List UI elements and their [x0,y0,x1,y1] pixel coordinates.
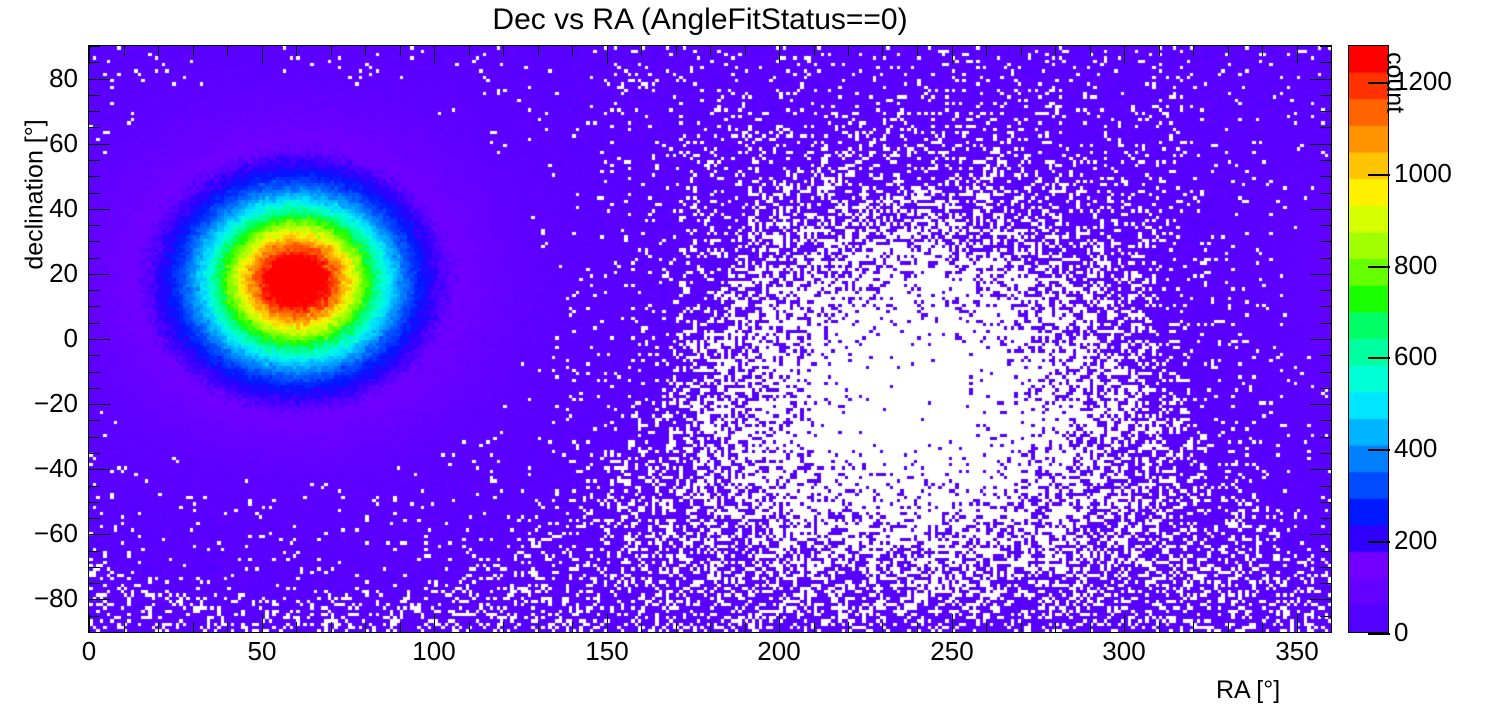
y-axis-tick-minor-right [1320,567,1332,568]
y-axis-tick-major-right [1310,599,1332,600]
x-axis-tick-minor-top [745,46,746,56]
x-axis-tick-minor [848,622,849,632]
x-axis-tick-minor [676,622,677,632]
histogram-plot-area [88,45,1332,633]
x-axis-tick-major [262,614,263,632]
y-axis-tick-minor [88,388,100,389]
x-axis-tick-minor [400,622,401,632]
y-axis-tick-major-right [1310,469,1332,470]
y-axis-tick-major [88,339,110,340]
y-axis-tick-minor [88,290,100,291]
y-axis-tick-minor [88,518,100,519]
color-bar-tick [1368,357,1390,359]
y-axis-tick-minor [88,127,100,128]
x-axis-tick-minor [814,622,815,632]
y-axis-tick-major [88,534,110,535]
page-title: Dec vs RA (AngleFitStatus==0) [0,3,1400,37]
y-axis-tick-minor-right [1320,355,1332,356]
y-axis-tick-minor-right [1320,551,1332,552]
y-axis-tick-major [88,469,110,470]
x-axis-tick-major [779,614,780,632]
x-axis-tick-minor [986,622,987,632]
color-bar-tick [1368,449,1390,451]
y-axis-tick-major [88,599,110,600]
x-axis-tick-minor-top [365,46,366,56]
y-axis-tick-minor-right [1320,111,1332,112]
y-axis-tick-major-right [1310,144,1332,145]
y-axis-tick-major-right [1310,79,1332,80]
y-axis-tick-minor-right [1320,323,1332,324]
y-axis-tick-minor-right [1320,632,1332,633]
y-axis-tick-minor-right [1320,372,1332,373]
x-axis-tick-minor [1331,622,1332,632]
y-axis-tick-minor [88,567,100,568]
x-axis-tick-label: 150 [562,636,652,667]
y-axis-tick-minor [88,306,100,307]
x-axis-tick-label: 250 [907,636,997,667]
x-axis-tick-major-top [1297,46,1298,64]
y-axis-tick-minor [88,95,100,96]
x-axis-tick-minor-top [538,46,539,56]
x-axis-tick-minor [710,622,711,632]
x-axis-tick-minor [365,622,366,632]
color-bar-tick-label: 600 [1394,341,1437,372]
x-axis-tick-minor [1021,622,1022,632]
y-axis-tick-minor [88,241,100,242]
y-axis-tick-major-right [1310,274,1332,275]
x-axis-tick-minor-top [503,46,504,56]
x-axis-tick-label: 300 [1079,636,1169,667]
x-axis-tick-minor [158,622,159,632]
y-axis-tick-minor [88,225,100,226]
x-axis-tick-minor-top [331,46,332,56]
y-axis-tick-minor-right [1320,437,1332,438]
x-axis-tick-minor [469,622,470,632]
y-axis-tick-major-right [1310,534,1332,535]
y-axis-tick-minor-right [1320,225,1332,226]
x-axis-tick-minor-top [1193,46,1194,56]
x-axis-tick-major-top [262,46,263,64]
x-axis-tick-minor [227,622,228,632]
x-axis-tick-major-top [1124,46,1125,64]
x-axis-tick-minor [1159,622,1160,632]
y-axis-tick-minor-right [1320,290,1332,291]
x-axis-tick-minor [745,622,746,632]
color-bar-tick-label: 800 [1394,250,1437,281]
x-axis-tick-minor [503,622,504,632]
x-axis-tick-minor-top [641,46,642,56]
y-axis-tick-minor [88,420,100,421]
y-axis-tick-minor [88,583,100,584]
x-axis-tick-minor-top [227,46,228,56]
y-axis-tick-minor [88,632,100,633]
x-axis-tick-minor [331,622,332,632]
color-bar-tick-label: 200 [1394,525,1437,556]
x-axis-tick-minor-top [986,46,987,56]
y-axis-tick-minor-right [1320,241,1332,242]
x-axis-tick-minor-top [158,46,159,56]
y-axis-tick-minor-right [1320,583,1332,584]
y-axis-tick-minor [88,111,100,112]
x-axis-tick-minor [882,622,883,632]
y-axis-tick-label: 0 [18,323,78,354]
x-axis-tick-major-top [89,46,90,64]
x-axis-tick-minor-top [1262,46,1263,56]
y-axis-tick-major [88,209,110,210]
x-axis-tick-minor [1193,622,1194,632]
x-axis-tick-label: 200 [734,636,824,667]
y-axis-tick-major [88,79,110,80]
x-axis-tick-major [89,614,90,632]
y-axis-tick-major [88,274,110,275]
y-axis-tick-minor [88,355,100,356]
x-axis-tick-minor [193,622,194,632]
x-axis-tick-major [607,614,608,632]
x-axis-tick-minor-top [1159,46,1160,56]
color-bar-tick-label: 1200 [1394,66,1452,97]
y-axis-tick-minor [88,160,100,161]
x-axis-tick-minor-top [572,46,573,56]
x-axis-tick-label: 350 [1252,636,1342,667]
y-axis-tick-minor-right [1320,388,1332,389]
x-axis-tick-major-top [779,46,780,64]
x-axis-tick-minor-top [1090,46,1091,56]
x-axis-tick-minor-top [1228,46,1229,56]
chart-root: Dec vs RA (AngleFitStatus==0) −80−60−40−… [0,0,1496,722]
x-axis-tick-major-top [952,46,953,64]
x-axis-tick-minor-top [124,46,125,56]
y-axis-tick-minor-right [1320,616,1332,617]
x-axis-tick-minor-top [917,46,918,56]
x-axis-tick-minor-top [1055,46,1056,56]
y-axis-tick-minor-right [1320,160,1332,161]
x-axis-tick-minor-top [848,46,849,56]
histogram-canvas [89,46,1331,632]
color-bar-tick [1368,633,1390,635]
y-axis-title: declination [°] [21,80,50,310]
x-axis-tick-minor-top [710,46,711,56]
y-axis-tick-minor [88,453,100,454]
x-axis-tick-minor [1055,622,1056,632]
x-axis-tick-major [952,614,953,632]
y-axis-tick-minor-right [1320,176,1332,177]
y-axis-tick-label: −80 [18,583,78,614]
y-axis-tick-minor [88,502,100,503]
x-axis-tick-label: 100 [389,636,479,667]
y-axis-tick-minor [88,258,100,259]
x-axis-tick-minor [296,622,297,632]
y-axis-tick-major [88,144,110,145]
y-axis-tick-minor-right [1320,306,1332,307]
x-axis-tick-major [1297,614,1298,632]
x-axis-tick-minor-top [882,46,883,56]
x-axis-title: RA [°] [1216,676,1280,705]
color-bar-tick [1368,541,1390,543]
x-axis-tick-minor [124,622,125,632]
y-axis-tick-minor [88,551,100,552]
color-bar-tick-label: 0 [1394,617,1408,648]
color-bar-tick [1368,266,1390,268]
y-axis-tick-minor-right [1320,502,1332,503]
x-axis-tick-minor-top [1331,46,1332,56]
x-axis-tick-minor-top [193,46,194,56]
x-axis-tick-minor-top [469,46,470,56]
x-axis-tick-minor [538,622,539,632]
y-axis-tick-label: −40 [18,453,78,484]
y-axis-tick-minor [88,176,100,177]
x-axis-tick-minor [1228,622,1229,632]
y-axis-tick-label: −60 [18,518,78,549]
color-bar-tick-label: 1000 [1394,158,1452,189]
x-axis-tick-minor-top [296,46,297,56]
y-axis-tick-minor [88,323,100,324]
y-axis-tick-minor-right [1320,258,1332,259]
color-bar-tick [1368,174,1390,176]
y-axis-tick-minor [88,193,100,194]
y-axis-tick-major [88,404,110,405]
y-axis-tick-minor-right [1320,193,1332,194]
y-axis-tick-minor [88,437,100,438]
y-axis-tick-minor-right [1320,420,1332,421]
x-axis-tick-minor [1262,622,1263,632]
y-axis-tick-minor [88,372,100,373]
x-axis-tick-minor [917,622,918,632]
y-axis-tick-minor [88,486,100,487]
y-axis-tick-minor-right [1320,62,1332,63]
color-bar-tick [1368,82,1390,84]
x-axis-tick-label: 0 [44,636,134,667]
x-axis-tick-major [1124,614,1125,632]
y-axis-tick-major-right [1310,404,1332,405]
y-axis-tick-minor-right [1320,127,1332,128]
y-axis-tick-minor-right [1320,486,1332,487]
x-axis-tick-minor [1090,622,1091,632]
x-axis-tick-minor-top [1021,46,1022,56]
x-axis-tick-major [434,614,435,632]
x-axis-tick-minor-top [400,46,401,56]
y-axis-tick-minor-right [1320,453,1332,454]
x-axis-tick-minor-top [676,46,677,56]
y-axis-tick-minor-right [1320,95,1332,96]
y-axis-tick-minor-right [1320,518,1332,519]
color-bar-tick-label: 400 [1394,433,1437,464]
y-axis-tick-major-right [1310,209,1332,210]
x-axis-tick-minor-top [814,46,815,56]
x-axis-tick-label: 50 [217,636,307,667]
x-axis-tick-minor [641,622,642,632]
x-axis-tick-major-top [607,46,608,64]
x-axis-tick-major-top [434,46,435,64]
x-axis-tick-minor [572,622,573,632]
y-axis-tick-major-right [1310,339,1332,340]
y-axis-tick-label: −20 [18,388,78,419]
